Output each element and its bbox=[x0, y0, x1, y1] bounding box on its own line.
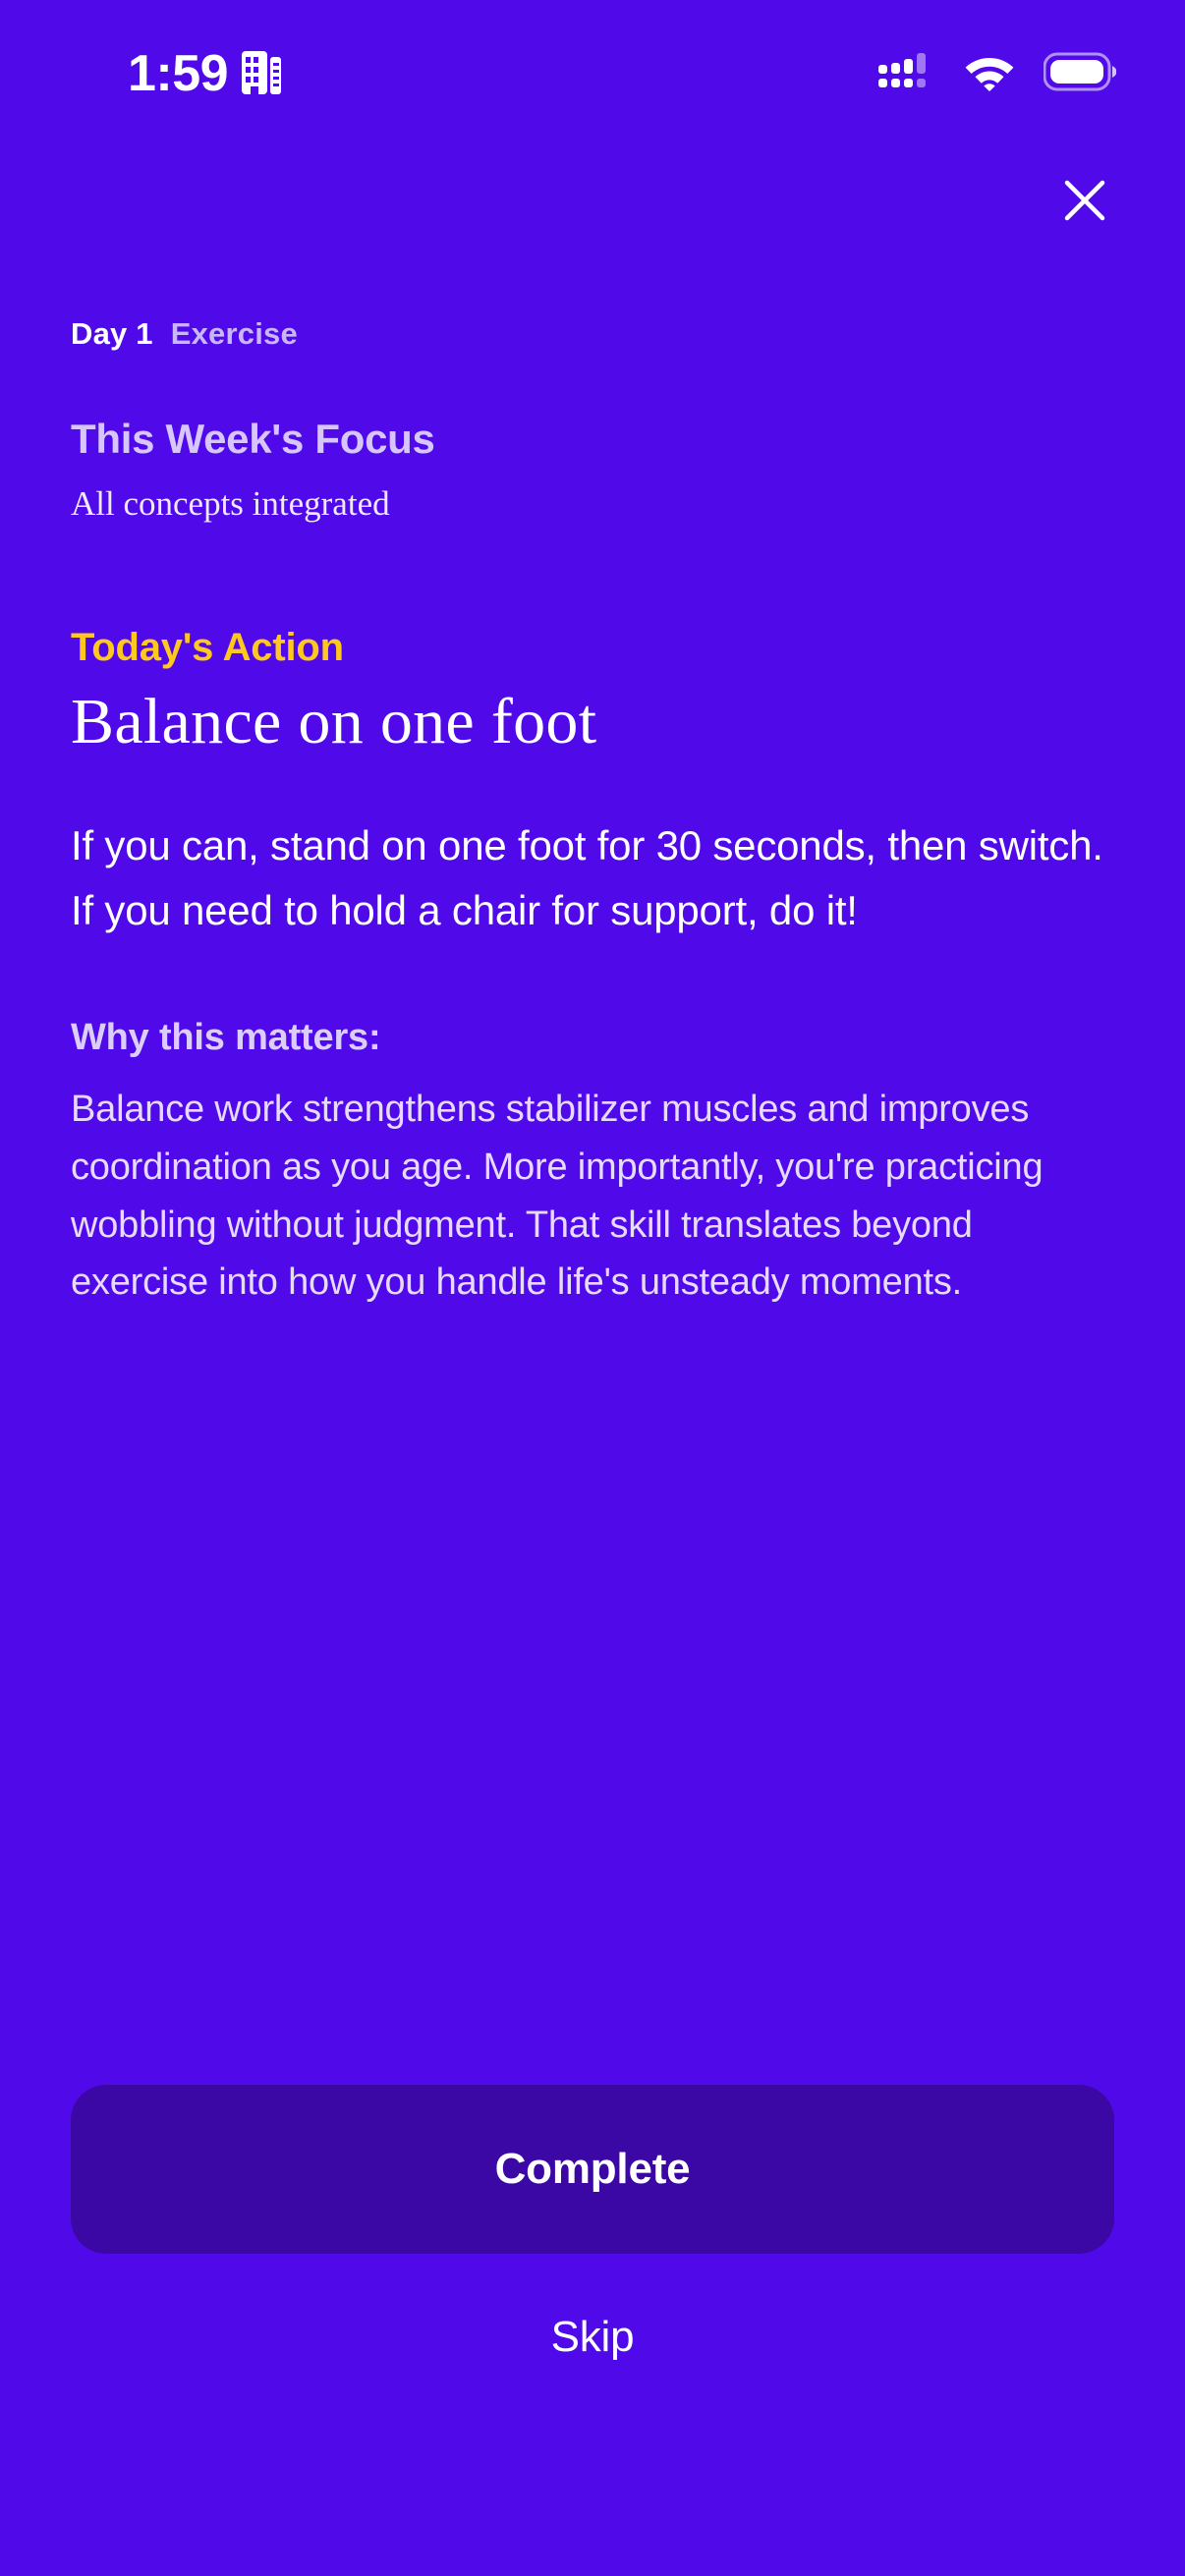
status-time: 1:59 bbox=[128, 48, 228, 99]
content-spacer bbox=[71, 1312, 1114, 2085]
skip-button[interactable]: Skip bbox=[71, 2295, 1114, 2380]
weekly-focus-section: This Week's Focus All concepts integrate… bbox=[71, 417, 1114, 525]
page-title: Balance on one foot bbox=[71, 686, 1114, 758]
status-bar-right bbox=[878, 51, 1116, 97]
action-description: If you can, stand on one foot for 30 sec… bbox=[71, 813, 1114, 944]
building-icon bbox=[242, 49, 281, 99]
weekly-focus-subtitle: All concepts integrated bbox=[71, 483, 1114, 525]
status-bar: 1:59 bbox=[0, 0, 1185, 147]
weekly-focus-title: This Week's Focus bbox=[71, 417, 1114, 462]
why-this-matters-section: Why this matters: Balance work strengthe… bbox=[71, 1017, 1114, 1313]
header-bar bbox=[0, 147, 1185, 255]
category-label: Exercise bbox=[171, 316, 298, 352]
exercise-detail-screen: 1:59 bbox=[0, 0, 1185, 2576]
close-icon bbox=[1062, 178, 1107, 226]
status-bar-left: 1:59 bbox=[128, 48, 281, 99]
cellular-signal-icon bbox=[878, 51, 935, 97]
todays-action-section: Today's Action Balance on one foot If yo… bbox=[71, 625, 1114, 944]
why-this-matters-title: Why this matters: bbox=[71, 1017, 1114, 1059]
breadcrumb: Day 1 Exercise bbox=[71, 316, 1114, 352]
home-indicator-area bbox=[0, 2380, 1185, 2576]
battery-full-icon bbox=[1044, 52, 1116, 96]
main-content: Day 1 Exercise This Week's Focus All con… bbox=[0, 255, 1185, 2085]
day-label: Day 1 bbox=[71, 316, 153, 352]
wifi-icon bbox=[963, 52, 1016, 96]
why-this-matters-body: Balance work strengthens stabilizer musc… bbox=[71, 1081, 1114, 1313]
todays-action-kicker: Today's Action bbox=[71, 625, 1114, 670]
complete-button[interactable]: Complete bbox=[71, 2085, 1114, 2254]
close-button[interactable] bbox=[1049, 166, 1120, 237]
footer-actions: Complete Skip bbox=[0, 2085, 1185, 2380]
